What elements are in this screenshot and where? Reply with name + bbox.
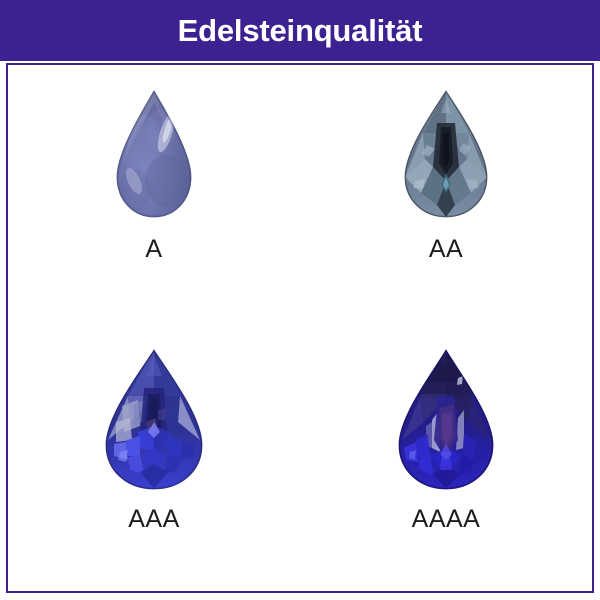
- gem-label-aaaa: AAAA: [412, 507, 481, 532]
- gem-cell-aaaa[interactable]: AAAA: [300, 328, 592, 591]
- gem-label-aa: AA: [429, 237, 463, 262]
- gem-grid: A: [8, 65, 592, 591]
- gem-label-aaa: AAA: [128, 507, 180, 532]
- content-panel: A: [6, 63, 594, 593]
- gem-cell-aaa[interactable]: AAA: [8, 328, 300, 591]
- gem-label-a: A: [145, 237, 162, 262]
- pear-faceted-gem-aaa: [104, 348, 204, 491]
- page-title: Edelsteinqualität: [178, 15, 423, 46]
- gem-cell-aa[interactable]: AA: [300, 65, 592, 328]
- header-banner: Edelsteinqualität: [0, 0, 600, 61]
- gemstone-quality-infographic: Edelsteinqualität: [0, 0, 600, 600]
- gem-cell-a[interactable]: A: [8, 65, 300, 328]
- pear-cabochon-gem-a: [115, 89, 193, 219]
- pear-faceted-gem-aa: [403, 89, 489, 219]
- pear-faceted-gem-aaaa: [396, 348, 496, 491]
